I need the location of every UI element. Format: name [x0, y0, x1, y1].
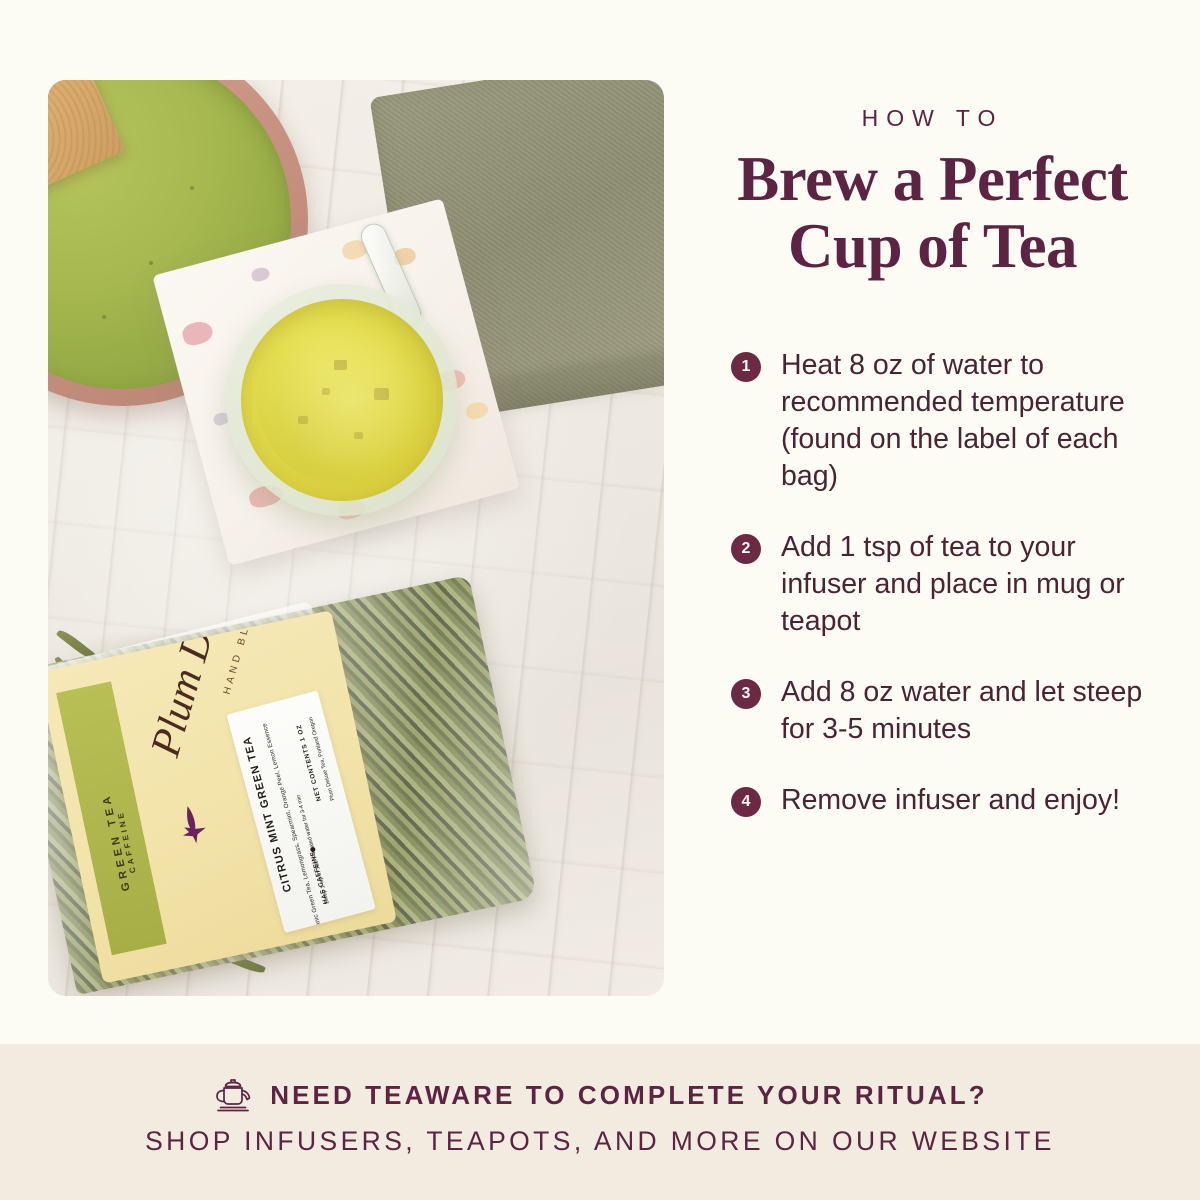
content-area: GREEN TEA CAFFEINE HAND BLENDED TEAS Plu… — [0, 0, 1200, 1044]
hummingbird-logo-icon — [164, 798, 219, 853]
list-item: 4 Remove infuser and enjoy! — [731, 782, 1148, 819]
step-number-badge: 1 — [731, 352, 761, 382]
footer-primary-line: NEED TEAWARE TO COMPLETE YOUR RITUAL? — [212, 1076, 988, 1116]
list-item: 2 Add 1 tsp of tea to your infuser and p… — [731, 529, 1148, 640]
list-item: 1 Heat 8 oz of water to recommended temp… — [731, 347, 1148, 495]
step-number-badge: 2 — [731, 534, 761, 564]
glass-mug-of-tea — [226, 284, 458, 516]
footer-subline: SHOP INFUSERS, TEAPOTS, AND MORE ON OUR … — [145, 1126, 1055, 1157]
step-text: Add 8 oz water and let steep for 3-5 min… — [781, 674, 1148, 748]
instructions-column: HOW TO Brew a Perfect Cup of Tea 1 Heat … — [703, 0, 1200, 1044]
step-text: Remove infuser and enjoy! — [781, 782, 1120, 819]
step-text: Add 1 tsp of tea to your infuser and pla… — [781, 529, 1148, 640]
page-title: Brew a Perfect Cup of Tea — [717, 146, 1148, 281]
mug-glass — [226, 284, 458, 516]
list-item: 3 Add 8 oz water and let steep for 3-5 m… — [731, 674, 1148, 748]
photo-column: GREEN TEA CAFFEINE HAND BLENDED TEAS Plu… — [0, 0, 703, 1044]
teapot-icon — [212, 1076, 254, 1116]
footer-headline: NEED TEAWARE TO COMPLETE YOUR RITUAL? — [270, 1080, 988, 1111]
step-text: Heat 8 oz of water to recommended temper… — [781, 347, 1148, 495]
eyebrow-label: HOW TO — [717, 105, 1148, 132]
step-number-badge: 4 — [731, 787, 761, 817]
step-number-badge: 3 — [731, 679, 761, 709]
tea-photo: GREEN TEA CAFFEINE HAND BLENDED TEAS Plu… — [48, 80, 664, 996]
title-line-1: Brew a Perfect — [717, 146, 1148, 213]
title-line-2: Cup of Tea — [717, 213, 1148, 280]
footer-banner: NEED TEAWARE TO COMPLETE YOUR RITUAL? SH… — [0, 1044, 1200, 1200]
package-info-label: CITRUS MINT GREEN TEA Organic Green Tea,… — [227, 690, 376, 933]
brewed-tea-liquid — [241, 299, 443, 501]
infographic-root: GREEN TEA CAFFEINE HAND BLENDED TEAS Plu… — [0, 0, 1200, 1200]
brewing-steps-list: 1 Heat 8 oz of water to recommended temp… — [717, 347, 1148, 853]
